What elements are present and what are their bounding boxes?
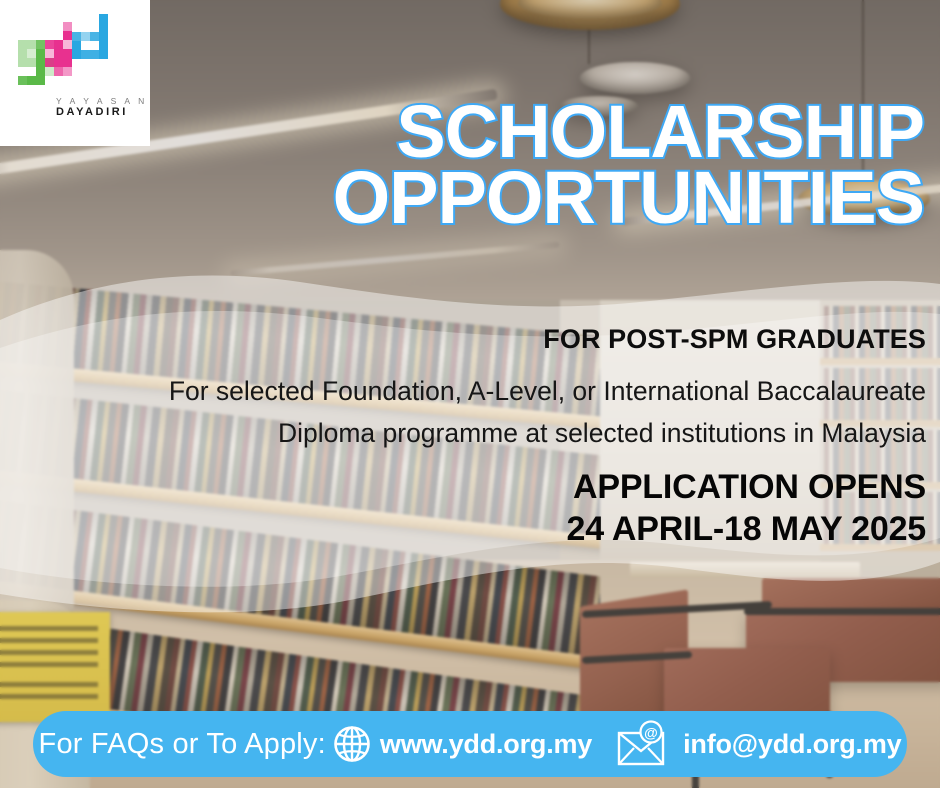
envelope-at-icon: @ bbox=[616, 720, 674, 768]
ydd-pixel-logo-icon bbox=[18, 14, 134, 92]
scholarship-poster: Y A Y A S A N DAYADIRI SCHOLARSHIP OPPOR… bbox=[0, 0, 940, 788]
page-title: SCHOLARSHIP OPPORTUNITIES bbox=[0, 96, 940, 234]
description: For selected Foundation, A-Level, or Int… bbox=[0, 370, 940, 454]
contact-lead-text: For FAQs or To Apply: bbox=[39, 728, 326, 761]
subheading: FOR POST-SPM GRADUATES bbox=[0, 324, 940, 355]
globe-icon bbox=[332, 724, 372, 764]
email-link[interactable]: info@ydd.org.my bbox=[683, 729, 901, 760]
application-dates: 24 APRIL-18 MAY 2025 bbox=[0, 508, 926, 550]
application-opens-label: APPLICATION OPENS bbox=[0, 466, 926, 508]
svg-text:@: @ bbox=[644, 725, 658, 741]
application-period: APPLICATION OPENS 24 APRIL-18 MAY 2025 bbox=[0, 466, 940, 550]
description-line-1: For selected Foundation, A-Level, or Int… bbox=[14, 370, 926, 412]
website-link[interactable]: www.ydd.org.my bbox=[380, 729, 592, 760]
contact-bar: For FAQs or To Apply: www.ydd.org.my @ bbox=[33, 711, 907, 777]
title-line-2: OPPORTUNITIES bbox=[0, 162, 924, 234]
description-line-2: Diploma programme at selected institutio… bbox=[14, 412, 926, 454]
